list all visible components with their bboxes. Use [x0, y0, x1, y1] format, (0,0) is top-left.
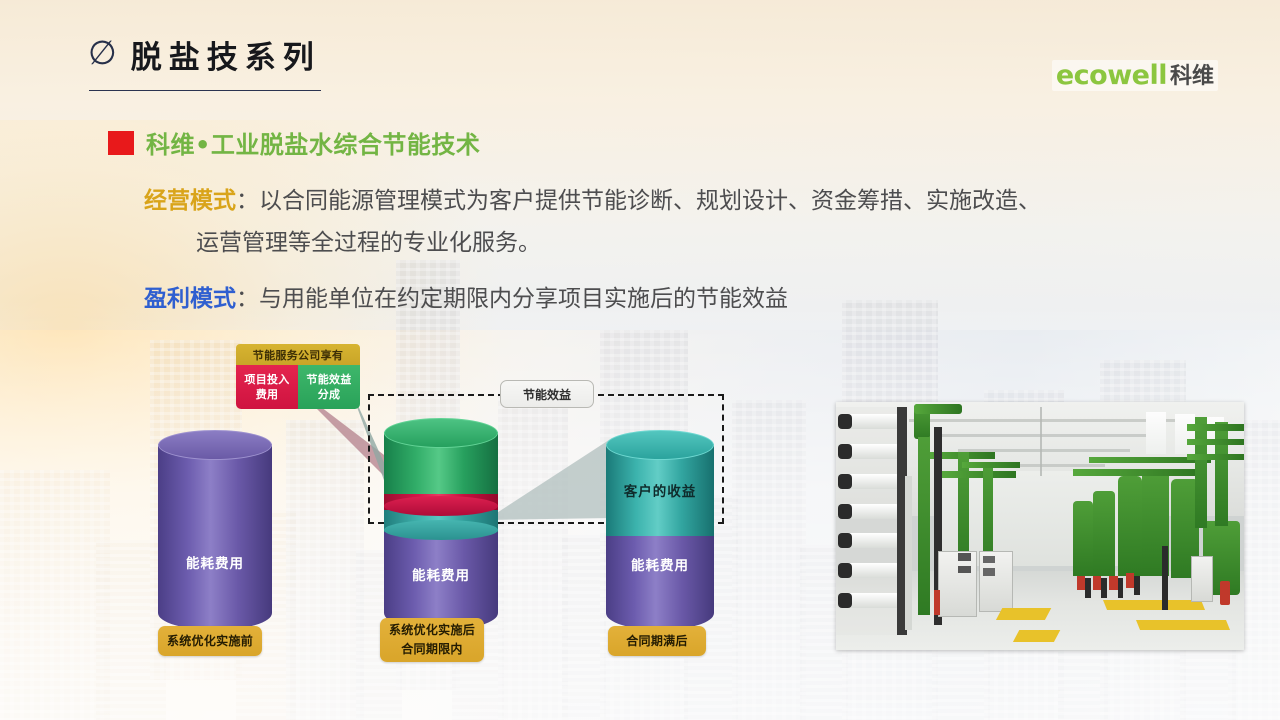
business-model-paragraph: 经营模式：以合同能源管理模式为客户提供节能诊断、规划设计、资金筹措、实施改造、	[144, 180, 1041, 222]
business-model-text: ：以合同能源管理模式为客户提供节能诊断、规划设计、资金筹措、实施改造、	[236, 188, 1041, 214]
cylinder-after-optimization: 能耗费用	[384, 418, 498, 630]
project-investment-cost-box: 项目投入 费用	[236, 365, 298, 409]
caption-3-line1: 合同期满后	[626, 632, 688, 651]
esco-callout-title: 节能服务公司享有	[236, 344, 360, 365]
caption-before-optimization: 系统优化实施前	[158, 626, 262, 656]
caption-after-optimization: 系统优化实施后 合同期限内	[380, 618, 484, 662]
profit-model-paragraph: 盈利模式：与用能单位在约定期限内分享项目实施后的节能效益	[144, 278, 788, 320]
profit-model-lead: 盈利模式	[144, 286, 236, 312]
business-model-lead: 经营模式	[144, 188, 236, 214]
project-investment-line1: 项目投入	[244, 372, 289, 387]
caption-after-contract: 合同期满后	[608, 626, 706, 656]
cylinder-before-optimization: 能耗费用	[158, 430, 272, 630]
caption-2-line1: 系统优化实施后	[389, 621, 475, 640]
profit-model-text: ：与用能单位在约定期限内分享项目实施后的节能效益	[236, 286, 788, 312]
slide-canvas: ∅ 脱盐技系列 ecowell 科维 科维•工业脱盐水综合节能技术 经营模式：以…	[0, 0, 1280, 720]
title-underline-divider	[89, 90, 321, 91]
logo-chinese-name: 科维	[1170, 66, 1214, 89]
cylinder-after-contract: 客户的收益 能耗费用	[606, 430, 714, 630]
cylinder-1-label: 能耗费用	[158, 552, 272, 572]
slashed-circle-icon: ∅	[88, 36, 117, 69]
energy-benefit-pill-label: 节能效益	[500, 380, 594, 408]
cylinder-3-label: 能耗费用	[606, 554, 714, 574]
caption-1-line1: 系统优化实施前	[167, 632, 253, 651]
section-heading-label: 科维•工业脱盐水综合节能技术	[146, 125, 480, 160]
desalination-plant-photo	[836, 402, 1244, 650]
energy-saving-share-line2: 分成	[318, 387, 341, 402]
caption-2-line2: 合同期限内	[401, 640, 463, 659]
cylinder-2-label: 能耗费用	[384, 564, 498, 584]
logo-wordmark: ecowell	[1056, 62, 1167, 89]
business-model-text-line2: 运营管理等全过程的专业化服务。	[196, 230, 541, 256]
business-model-paragraph-line2: 运营管理等全过程的专业化服务。	[196, 222, 541, 264]
slide-header: ∅ 脱盐技系列	[88, 32, 321, 77]
energy-saving-share-box: 节能效益 分成	[298, 365, 360, 409]
ecowell-logo: ecowell 科维	[1052, 60, 1218, 91]
esco-callout: 节能服务公司享有 项目投入 费用 节能效益 分成	[236, 344, 360, 409]
cylinder-3-top-label: 客户的收益	[606, 480, 714, 500]
project-investment-line2: 费用	[256, 387, 279, 402]
energy-saving-share-line1: 节能效益	[306, 372, 351, 387]
page-title: 脱盐技系列	[131, 32, 321, 77]
energy-saving-diagram: 节能服务公司享有 项目投入 费用 节能效益 分成 节能效益 能耗费用	[0, 330, 820, 690]
red-square-bullet-icon	[108, 131, 134, 155]
section-heading: 科维•工业脱盐水综合节能技术	[108, 125, 480, 160]
